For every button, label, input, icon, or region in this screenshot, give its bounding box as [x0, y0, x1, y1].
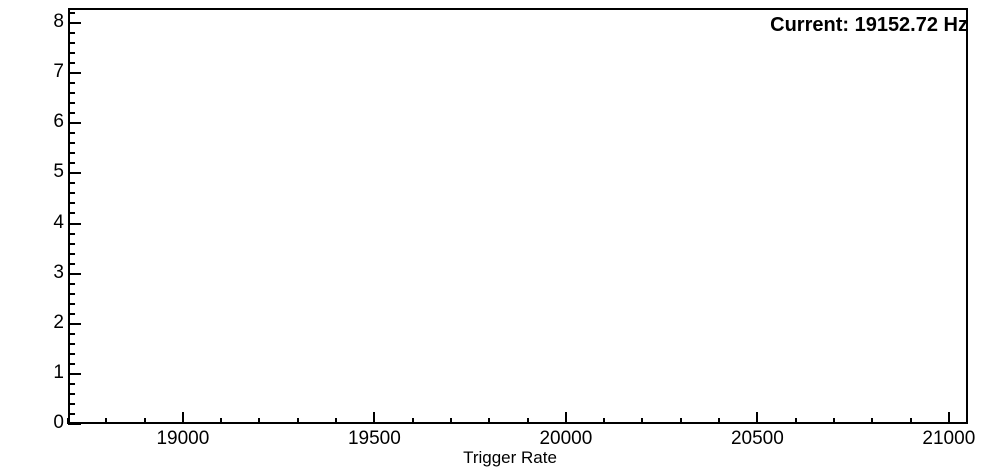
y-tick-minor: [68, 192, 75, 194]
x-tick-minor: [833, 418, 835, 424]
y-tick-label: 2: [24, 313, 64, 332]
y-tick-minor: [68, 162, 75, 164]
y-tick-major: [68, 373, 81, 375]
x-tick-minor: [488, 418, 490, 424]
x-tick-major: [182, 412, 184, 424]
y-tick-major: [68, 122, 81, 124]
y-tick-minor: [68, 102, 75, 104]
x-tick-label: 21000: [922, 428, 975, 450]
x-tick-minor: [603, 418, 605, 424]
y-tick-major: [68, 273, 81, 275]
y-tick-minor: [68, 52, 75, 54]
y-tick-minor: [68, 283, 75, 285]
x-tick-minor: [220, 418, 222, 424]
y-tick-minor: [68, 92, 75, 94]
x-tick-minor: [297, 418, 299, 424]
y-tick-minor: [68, 303, 75, 305]
y-tick-major: [68, 22, 81, 24]
x-tick-minor: [871, 418, 873, 424]
x-tick-minor: [680, 418, 682, 424]
y-tick-minor: [68, 32, 75, 34]
y-tick-minor: [68, 82, 75, 84]
y-tick-major: [68, 423, 81, 425]
y-tick-label: 4: [24, 213, 64, 232]
y-tick-minor: [68, 343, 75, 345]
x-tick-minor: [450, 418, 452, 424]
x-tick-major: [948, 412, 950, 424]
y-tick-minor: [68, 333, 75, 335]
y-tick-minor: [68, 182, 75, 184]
y-tick-minor: [68, 363, 75, 365]
y-tick-major: [68, 323, 81, 325]
x-tick-minor: [67, 418, 69, 424]
y-tick-label: 6: [24, 112, 64, 131]
y-tick-minor: [68, 253, 75, 255]
y-tick-label: 8: [24, 12, 64, 31]
y-tick-minor: [68, 383, 75, 385]
y-tick-minor: [68, 263, 75, 265]
current-value-label: Current: 19152.72 Hz: [770, 14, 968, 37]
y-tick-minor: [68, 42, 75, 44]
x-tick-minor: [144, 418, 146, 424]
x-tick-minor: [641, 418, 643, 424]
x-tick-label: 20000: [539, 428, 592, 450]
y-tick-minor: [68, 212, 75, 214]
x-tick-major: [373, 412, 375, 424]
y-tick-minor: [68, 12, 75, 14]
y-tick-major: [68, 72, 81, 74]
y-tick-minor: [68, 293, 75, 295]
x-tick-major: [756, 412, 758, 424]
x-tick-minor: [335, 418, 337, 424]
y-tick-minor: [68, 243, 75, 245]
y-tick-minor: [68, 202, 75, 204]
y-tick-label: 7: [24, 62, 64, 81]
x-tick-minor: [105, 418, 107, 424]
y-tick-minor: [68, 112, 75, 114]
y-tick-minor: [68, 313, 75, 315]
y-tick-minor: [68, 62, 75, 64]
y-tick-label: 1: [24, 363, 64, 382]
y-tick-minor: [68, 393, 75, 395]
y-tick-label: 3: [24, 263, 64, 282]
plot-frame: [68, 8, 968, 424]
x-tick-minor: [795, 418, 797, 424]
y-tick-minor: [68, 413, 75, 415]
x-tick-minor: [258, 418, 260, 424]
y-tick-minor: [68, 233, 75, 235]
x-axis-title: Trigger Rate: [463, 448, 557, 468]
x-tick-minor: [910, 418, 912, 424]
x-tick-label: 20500: [731, 428, 784, 450]
chart-root: 012345678 1900019500200002050021000 Trig…: [0, 0, 996, 472]
x-tick-label: 19500: [348, 428, 401, 450]
x-tick-minor: [412, 418, 414, 424]
x-tick-label: 19000: [156, 428, 209, 450]
y-tick-minor: [68, 142, 75, 144]
y-tick-label: 5: [24, 162, 64, 181]
y-tick-label: 0: [24, 413, 64, 432]
x-tick-major: [565, 412, 567, 424]
y-tick-minor: [68, 353, 75, 355]
y-tick-minor: [68, 152, 75, 154]
x-tick-minor: [527, 418, 529, 424]
y-tick-major: [68, 172, 81, 174]
y-tick-minor: [68, 403, 75, 405]
x-tick-minor: [718, 418, 720, 424]
y-tick-major: [68, 223, 81, 225]
y-tick-minor: [68, 132, 75, 134]
